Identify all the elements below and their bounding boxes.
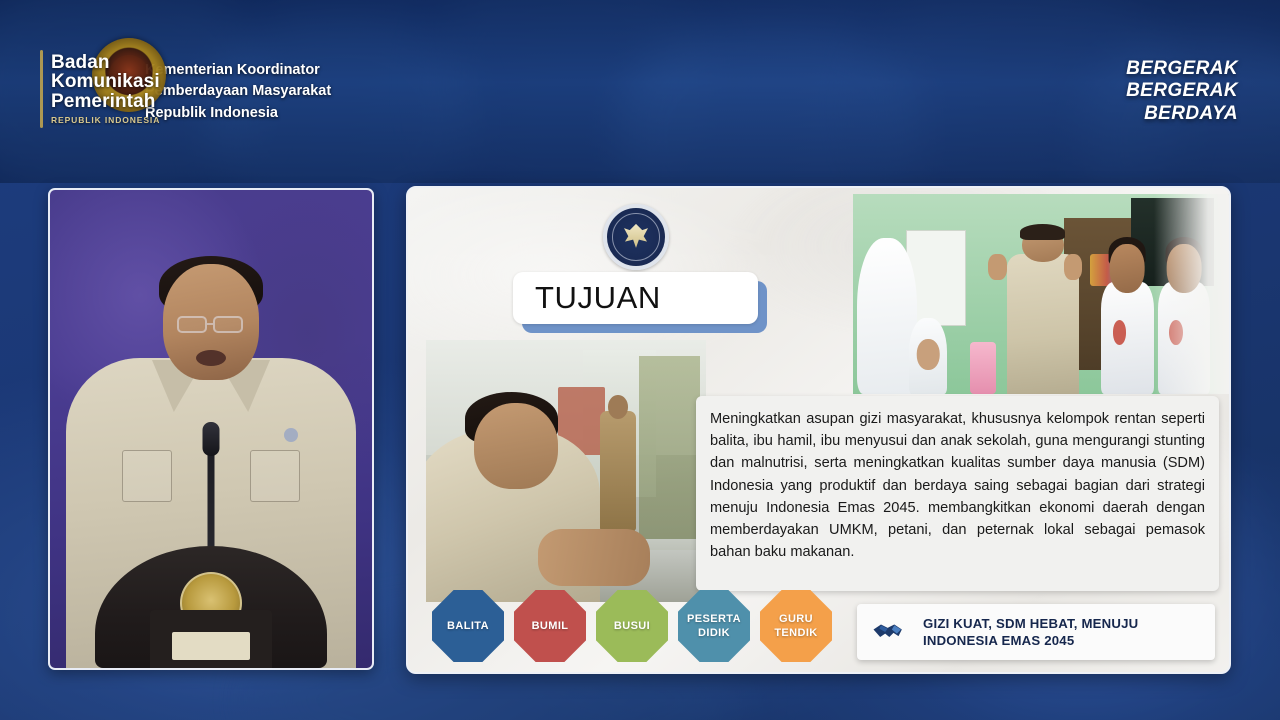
slogan-line2: INDONESIA EMAS 2045 [923, 632, 1138, 649]
tagline-line1: BERGERAK [1126, 58, 1238, 80]
presentation-slide: TUJUAN Meningkatkan asupan gi [406, 186, 1231, 674]
ministry-seal-icon [603, 204, 669, 270]
podium-base [150, 610, 272, 668]
badge-guru-tendik-label: GURU TENDIK [764, 612, 828, 640]
logo-title-line2: Komunikasi [51, 72, 160, 91]
speaker-mouth [196, 350, 226, 366]
badge-bumil[interactable]: BUMIL [514, 590, 586, 662]
badge-busui-label: BUSUI [614, 619, 650, 633]
agency-logo: Badan Komunikasi Pemerintah REPUBLIK IND… [40, 50, 160, 128]
speaker-glasses-bridge [207, 323, 213, 325]
slide-title-text: TUJUAN [535, 280, 661, 316]
campaign-tagline: BERGERAK BERGERAK BERDAYA [1126, 58, 1238, 125]
speaker-glasses-left [177, 316, 207, 333]
tagline-line2: BERGERAK [1126, 80, 1238, 102]
speaker-lapel-badge [284, 428, 298, 442]
objective-text-panel: Meningkatkan asupan gizi masyarakat, khu… [696, 396, 1219, 591]
logo-title-line1: Badan [51, 53, 160, 72]
badge-balita[interactable]: BALITA [432, 590, 504, 662]
classroom-photo [853, 194, 1229, 394]
ministry-line2: Pemberdayaan Masyarakat [145, 81, 331, 102]
badge-peserta-didik[interactable]: PESERTA DIDIK [678, 590, 750, 662]
slide-title-group: TUJUAN [513, 272, 758, 324]
ministry-name: Kementerian Koordinator Pemberdayaan Mas… [145, 60, 331, 124]
tagline-line3: BERDAYA [1126, 103, 1238, 125]
badge-guru-tendik[interactable]: GURU TENDIK [760, 590, 832, 662]
logo-divider-rule [40, 50, 43, 128]
microphone-icon [203, 422, 220, 456]
slide-title-box: TUJUAN [513, 272, 758, 324]
badge-busui[interactable]: BUSUI [596, 590, 668, 662]
slogan-text: GIZI KUAT, SDM HEBAT, MENUJU INDONESIA E… [923, 615, 1138, 650]
speaker-pocket-left [122, 450, 172, 502]
ministry-line1: Kementerian Koordinator [145, 60, 331, 81]
speaker-glasses-right [213, 316, 243, 333]
page-header: Badan Komunikasi Pemerintah REPUBLIK IND… [0, 0, 1280, 183]
badge-peserta-didik-label: PESERTA DIDIK [682, 612, 746, 640]
logo-title-line3: Pemerintah [51, 92, 160, 111]
badge-bumil-label: BUMIL [532, 619, 569, 633]
slogan-line1: GIZI KUAT, SDM HEBAT, MENUJU [923, 615, 1138, 632]
ministry-line3: Republik Indonesia [145, 103, 331, 124]
speaker-video-panel [48, 188, 374, 670]
target-group-badges: BALITA BUMIL BUSUI PESERTA DIDIK GURU TE… [432, 590, 832, 662]
podium-plaque [172, 632, 250, 660]
slogan-bar: GIZI KUAT, SDM HEBAT, MENUJU INDONESIA E… [857, 604, 1215, 660]
kitchen-photo [426, 340, 706, 602]
handshake-icon [871, 618, 911, 646]
objective-body-text: Meningkatkan asupan gizi masyarakat, khu… [710, 408, 1205, 563]
speaker-pocket-right [250, 450, 300, 502]
logo-subtitle: REPUBLIK INDONESIA [51, 115, 160, 125]
badge-balita-label: BALITA [447, 619, 489, 633]
